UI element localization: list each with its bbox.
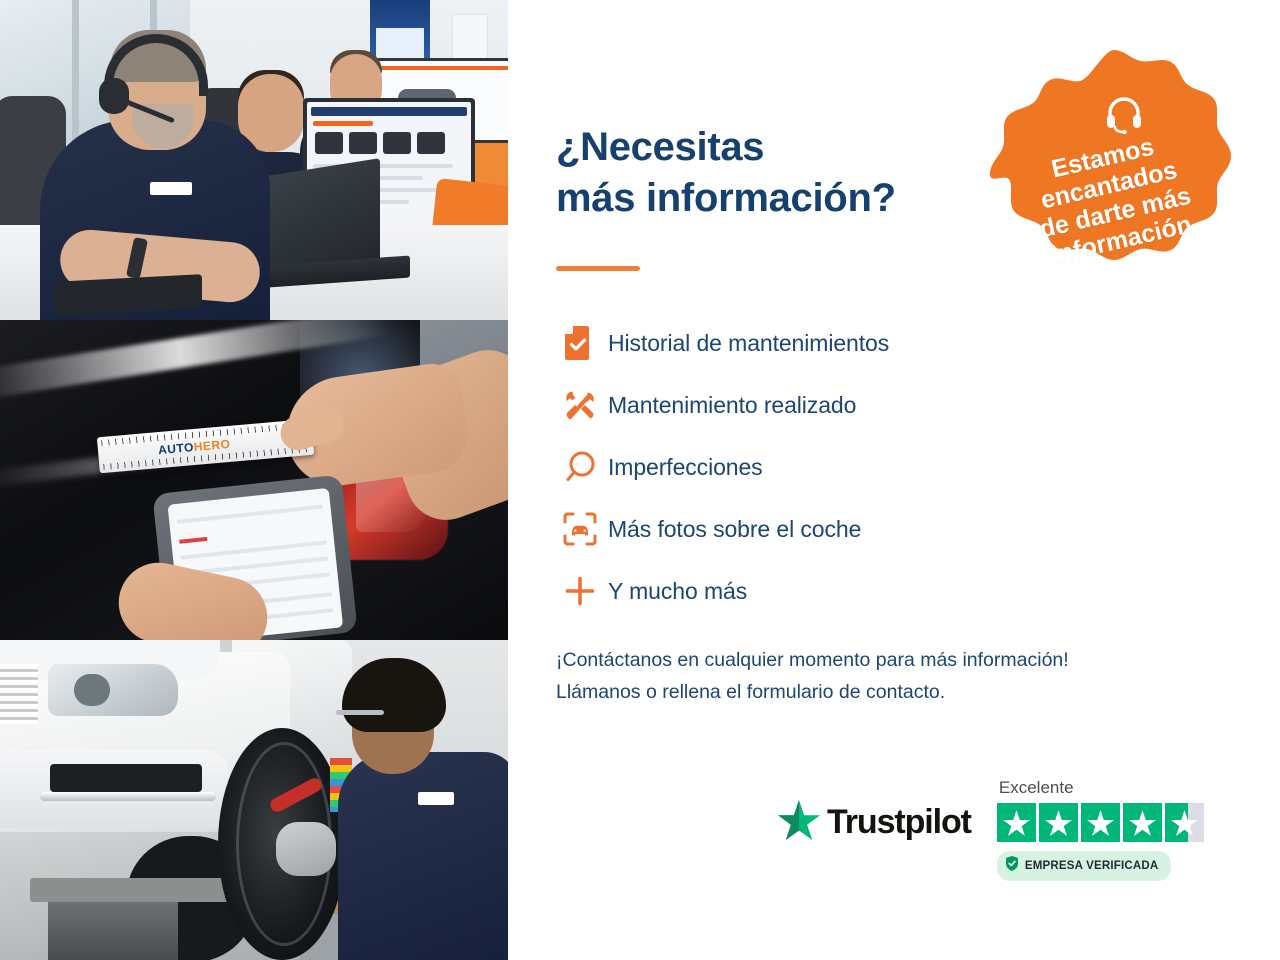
badge-text: Estamos encantados de darte más informac… (1024, 127, 1199, 271)
technician-glasses (336, 710, 384, 715)
trustpilot-rating: Excelente EMPRESA VERIFICADA (997, 778, 1204, 881)
feature-item-more-photos: Más fotos sobre el coche (552, 498, 1172, 560)
screen-navbar (311, 107, 467, 116)
star-rating (997, 803, 1204, 842)
autohero-logo-hero: HERO (193, 437, 231, 454)
car-scan-frame-icon (552, 512, 608, 546)
star-filled (997, 803, 1036, 842)
headset-icon (1104, 94, 1144, 139)
trustpilot-wordmark: Trustpilot (827, 803, 971, 842)
wall-poster-image (376, 28, 424, 60)
screen-car-thumb (417, 132, 445, 154)
contact-text: ¡Contáctanos en cualquier momento para m… (556, 644, 1256, 708)
feature-label: Mantenimiento realizado (608, 392, 856, 419)
headlight-projector (74, 674, 110, 706)
feature-item-maintenance-done: Mantenimiento realizado (552, 374, 1172, 436)
trustpilot-block: Trustpilot Excelente (778, 778, 1204, 881)
feature-item-imperfections: Imperfecciones (552, 436, 1172, 498)
car-lower-grille (50, 764, 202, 792)
technician-logo-patch (418, 792, 454, 805)
verified-label: EMPRESA VERIFICADA (1025, 860, 1159, 872)
tools-wrench-screwdriver-icon (552, 388, 608, 422)
feature-item-maintenance-history: Historial de mantenimientos (552, 312, 1172, 374)
rating-label: Excelente (999, 778, 1074, 798)
screen-car-thumb (349, 132, 377, 154)
document-check-icon (552, 326, 608, 360)
contact-line-2: Llámanos o rellena el formulario de cont… (556, 681, 945, 703)
polo-logo-patch (150, 182, 192, 195)
magnifier-icon (552, 450, 608, 484)
title-divider (556, 266, 640, 271)
info-promo-panel: AUTOHERO (0, 0, 1280, 960)
trustpilot-logo[interactable]: Trustpilot (778, 800, 971, 845)
badge-content: Estamos encantados de darte más informac… (986, 46, 1242, 302)
page-title-line2: más información? (556, 176, 896, 220)
plus-icon (552, 574, 608, 608)
contact-line-1: ¡Contáctanos en cualquier momento para m… (556, 649, 1069, 671)
feature-label: Más fotos sobre el coche (608, 516, 861, 543)
feature-label: Historial de mantenimientos (608, 330, 889, 357)
star-filled (1081, 803, 1120, 842)
car-inspection-ruler-photo: AUTOHERO (0, 320, 508, 640)
car-grille (0, 664, 38, 724)
support-badge: Estamos encantados de darte más informac… (986, 46, 1242, 302)
car-lift-post (48, 902, 178, 960)
feature-label: Y mucho más (608, 578, 747, 605)
star-filled (1039, 803, 1078, 842)
car-headlight (48, 664, 178, 716)
tablet-row (181, 540, 327, 559)
trustpilot-star-icon (778, 800, 820, 845)
feature-label: Imperfecciones (608, 454, 763, 481)
workshop-wheel-change-photo (0, 640, 508, 960)
page-title-line1: ¿Necesitas (556, 125, 764, 169)
technician-glove (276, 822, 336, 876)
tablet-alert-row (179, 537, 207, 544)
wall-notice (452, 14, 488, 64)
tablet-row (177, 505, 323, 524)
shield-check-icon (1005, 856, 1019, 876)
agent-headset-earcup (99, 78, 129, 114)
star-filled (1123, 803, 1162, 842)
photo-column: AUTOHERO (0, 0, 508, 960)
autohero-logo-auto: AUTO (158, 440, 195, 457)
page-title: ¿Necesitas más información? (556, 122, 896, 224)
call-center-agents-photo (0, 0, 508, 320)
verified-company-badge: EMPRESA VERIFICADA (997, 851, 1172, 881)
star-partial (1165, 803, 1204, 842)
feature-item-much-more: Y mucho más (552, 560, 1172, 622)
screen-accent-bar (361, 66, 508, 70)
screen-search-bar (313, 121, 373, 126)
screen-car-thumb (315, 132, 343, 154)
bumper-chrome-trim (40, 792, 216, 801)
feature-list: Historial de mantenimientos Mantenimient… (552, 312, 1172, 622)
screen-car-thumb (383, 132, 411, 154)
technician-body (338, 752, 508, 960)
